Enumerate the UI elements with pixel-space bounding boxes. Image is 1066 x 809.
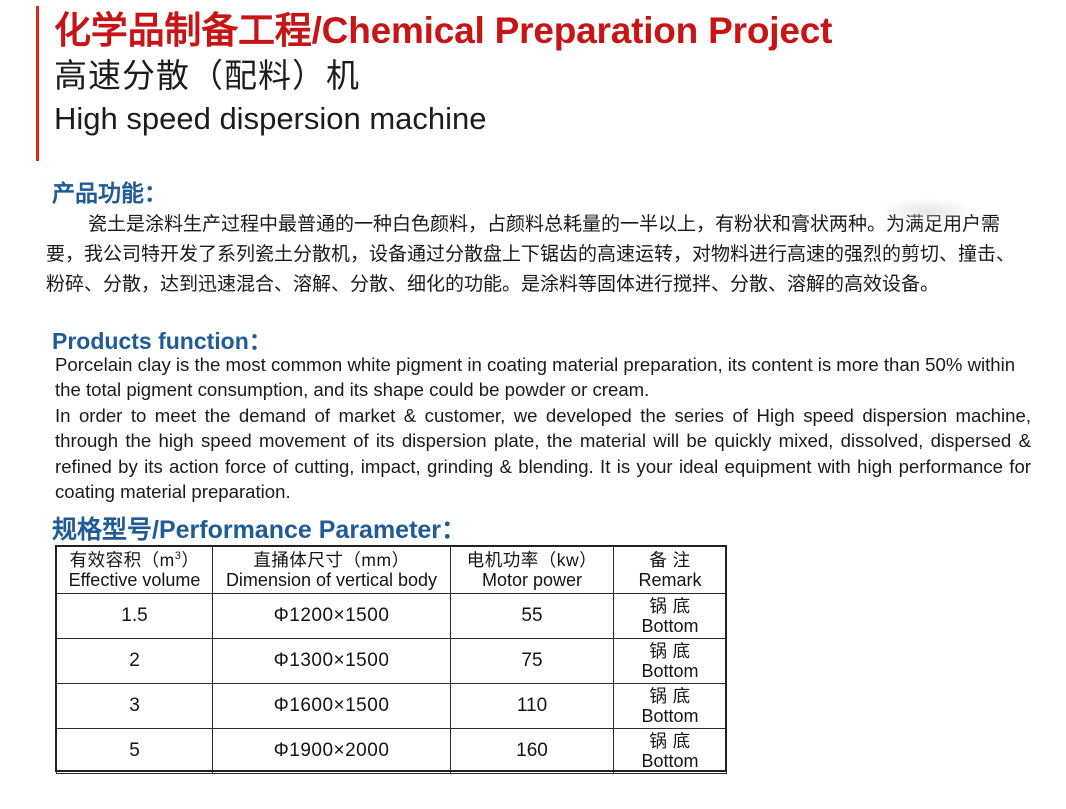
cell-volume: 1.5 (57, 594, 213, 639)
header-remark-cn: 备 注 (614, 550, 726, 570)
value-dimension: Φ1900×2000 (213, 740, 450, 762)
value-power: 110 (451, 695, 613, 717)
cn-paragraph-line: 粉碎、分散，达到迅速混合、溶解、分散、细化的功能。是涂料等固体进行搅拌、分散、溶… (46, 270, 1046, 300)
header-remark-en: Remark (614, 570, 726, 590)
cn-paragraph-line: 要，我公司特开发了系列瓷土分散机，设备通过分散盘上下锯齿的高速运转，对物料进行高… (46, 240, 1046, 270)
value-volume: 2 (57, 650, 212, 672)
header-motor-power-en: Motor power (451, 570, 613, 590)
value-dimension: Φ1300×1500 (213, 650, 450, 672)
header-motor-power: 电机功率（kw） Motor power (451, 547, 614, 594)
cell-dimension: Φ1200×1500 (213, 594, 451, 639)
value-power: 55 (451, 605, 613, 627)
products-function-english-body: Porcelain clay is the most common white … (55, 352, 1031, 504)
page-subtitle-english: High speed dispersion machine (54, 98, 1046, 140)
product-function-chinese-body: 瓷土是涂料生产过程中最普通的一种白色颜料，占颜料总耗量的一半以上，有粉状和膏状两… (46, 210, 1046, 300)
section-heading-performance-parameter: 规格型号/Performance Parameter： (52, 510, 466, 546)
cell-power: 55 (451, 594, 614, 639)
value-volume: 3 (57, 695, 212, 717)
cell-remark: 锅 底 Bottom (614, 729, 727, 774)
header-effective-volume: 有效容积（m3） Effective volume (57, 547, 213, 594)
cn-paragraph-line: 瓷土是涂料生产过程中最普通的一种白色颜料，占颜料总耗量的一半以上，有粉状和膏状两… (46, 210, 1046, 240)
header-dimension-cn: 直捅体尺寸（mm） (213, 550, 450, 570)
value-dimension: Φ1600×1500 (213, 695, 450, 717)
header-effective-volume-cn: 有效容积（m3） (57, 550, 212, 570)
section-heading-products-function-en: Products function： (52, 322, 272, 356)
page-title: 化学品制备工程/Chemical Preparation Project (54, 8, 1046, 54)
cell-dimension: Φ1900×2000 (213, 729, 451, 774)
table-row: 5 Φ1900×2000 160 锅 底 Bottom (57, 729, 727, 774)
table-row: 2 Φ1300×1500 75 锅 底 Bottom (57, 639, 727, 684)
page-subtitle-chinese: 高速分散（配料）机 (54, 54, 1046, 98)
cell-remark: 锅 底 Bottom (614, 639, 727, 684)
specification-table: 有效容积（m3） Effective volume 直捅体尺寸（mm） Dime… (56, 546, 727, 774)
cell-power: 160 (451, 729, 614, 774)
header-motor-power-cn: 电机功率（kw） (451, 550, 613, 570)
value-power: 75 (451, 650, 613, 672)
value-remark-en: Bottom (614, 706, 726, 726)
header-remark: 备 注 Remark (614, 547, 727, 594)
cell-remark: 锅 底 Bottom (614, 684, 727, 729)
value-remark-cn: 锅 底 (614, 596, 726, 616)
en-paragraph: In order to meet the demand of market & … (55, 403, 1031, 505)
cell-dimension: Φ1600×1500 (213, 684, 451, 729)
value-volume: 1.5 (57, 605, 212, 627)
value-remark-cn: 锅 底 (614, 686, 726, 706)
value-dimension: Φ1200×1500 (213, 605, 450, 627)
document-page: 化学品制备工程/Chemical Preparation Project 高速分… (0, 0, 1066, 809)
header-dimension: 直捅体尺寸（mm） Dimension of vertical body (213, 547, 451, 594)
header-dimension-en: Dimension of vertical body (213, 570, 450, 590)
section-heading-product-function-cn: 产品功能： (52, 174, 167, 208)
spec-table-container: 有效容积（m3） Effective volume 直捅体尺寸（mm） Dime… (56, 546, 727, 774)
cell-power: 75 (451, 639, 614, 684)
value-remark-en: Bottom (614, 751, 726, 771)
value-power: 160 (451, 740, 613, 762)
value-remark-en: Bottom (614, 616, 726, 636)
cell-remark: 锅 底 Bottom (614, 594, 727, 639)
cell-volume: 3 (57, 684, 213, 729)
cell-dimension: Φ1300×1500 (213, 639, 451, 684)
value-remark-cn: 锅 底 (614, 731, 726, 751)
value-remark-en: Bottom (614, 661, 726, 681)
cell-volume: 5 (57, 729, 213, 774)
table-row: 1.5 Φ1200×1500 55 锅 底 Bottom (57, 594, 727, 639)
table-row: 3 Φ1600×1500 110 锅 底 Bottom (57, 684, 727, 729)
value-volume: 5 (57, 740, 212, 762)
value-remark-cn: 锅 底 (614, 641, 726, 661)
cell-power: 110 (451, 684, 614, 729)
header-effective-volume-en: Effective volume (57, 570, 212, 590)
cell-volume: 2 (57, 639, 213, 684)
title-block: 化学品制备工程/Chemical Preparation Project 高速分… (36, 8, 1046, 140)
en-paragraph: Porcelain clay is the most common white … (55, 352, 1031, 403)
table-header-row: 有效容积（m3） Effective volume 直捅体尺寸（mm） Dime… (57, 547, 727, 594)
